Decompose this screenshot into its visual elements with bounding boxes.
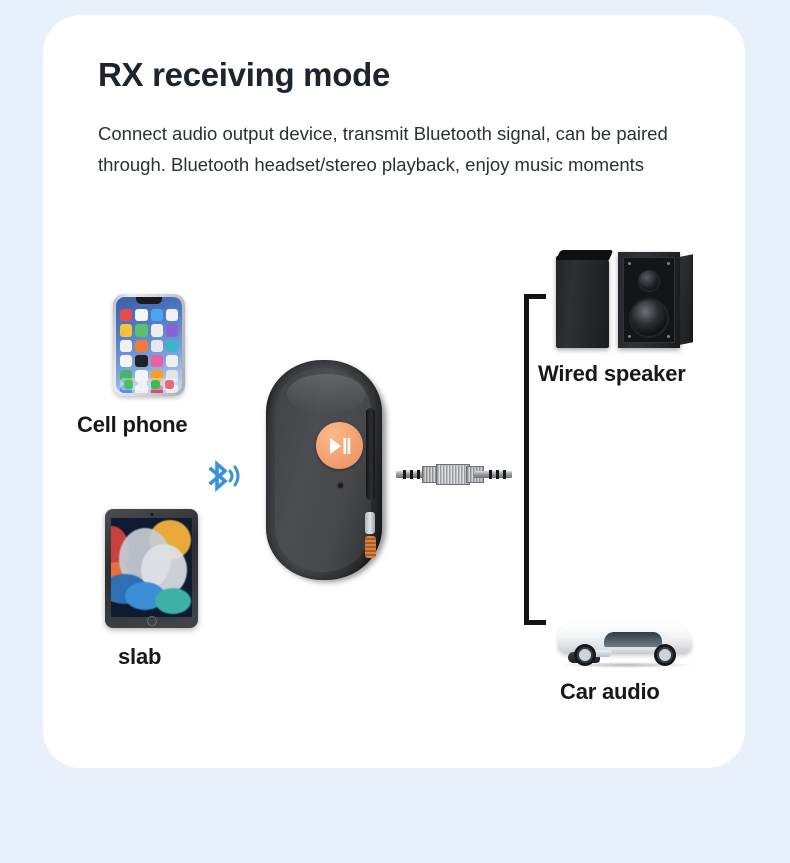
- wired-speaker-image: [556, 248, 696, 352]
- page-title: RX receiving mode: [98, 56, 390, 94]
- device-body: [266, 360, 382, 580]
- jack-right: [474, 471, 512, 478]
- woofer-driver: [629, 298, 669, 338]
- tablet-image: [105, 509, 198, 628]
- car-wheel-front: [574, 644, 596, 666]
- volume-rocker-button[interactable]: [366, 408, 375, 500]
- tablet-home-button: [147, 616, 157, 626]
- bluetooth-receiver-device: [262, 358, 392, 588]
- car-wheel-rear: [654, 644, 676, 666]
- charging-port: [365, 536, 376, 558]
- car-windshield: [604, 632, 662, 647]
- play-pause-button[interactable]: [316, 422, 363, 469]
- device-face: [275, 368, 371, 572]
- cell-phone-image: [113, 294, 185, 396]
- play-pause-icon: [329, 437, 351, 455]
- phone-notch: [136, 297, 162, 304]
- aux-port: [365, 512, 375, 534]
- tablet-screen: [111, 518, 192, 617]
- page-description: Connect audio output device, transmit Bl…: [98, 118, 738, 180]
- tablet-label: slab: [118, 644, 161, 670]
- phone-screen: [116, 297, 182, 393]
- device-highlight: [287, 374, 365, 414]
- wired-speaker-label: Wired speaker: [538, 361, 686, 387]
- tweeter-driver: [638, 270, 660, 292]
- speaker-baffle: [623, 257, 675, 343]
- tablet-body: [105, 509, 198, 628]
- speaker-left: [556, 256, 609, 348]
- barrel-middle: [436, 464, 470, 485]
- microphone-pinhole: [338, 483, 343, 488]
- tablet-camera: [150, 513, 153, 516]
- aux-cable-image: [396, 462, 512, 488]
- car-audio-image: [552, 606, 700, 668]
- phone-body: [113, 294, 185, 396]
- phone-dock: [120, 378, 178, 390]
- cell-phone-label: Cell phone: [77, 412, 187, 438]
- car-audio-label: Car audio: [560, 679, 660, 705]
- infographic-page: RX receiving mode Connect audio output d…: [0, 0, 790, 863]
- output-bracket: [524, 294, 546, 625]
- bluetooth-icon: [198, 456, 244, 502]
- speaker-left-top: [556, 250, 613, 260]
